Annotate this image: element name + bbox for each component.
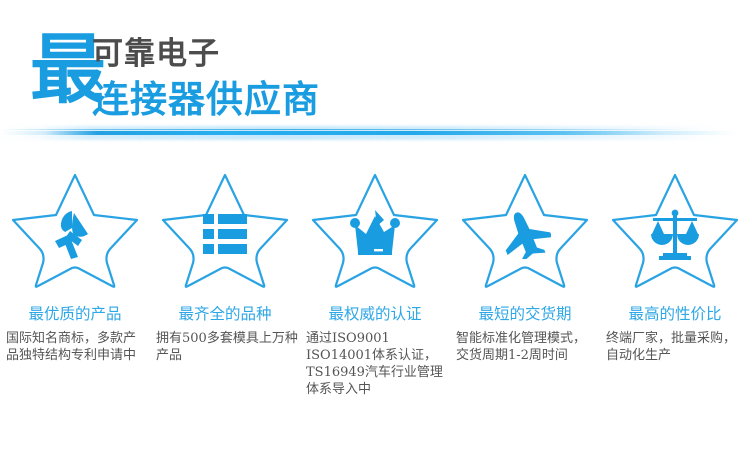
feature-description: 通过ISO9001 ISO14001体系认证，TS16949汽车行业管理体系导入… bbox=[302, 330, 448, 398]
feature-icon-slot bbox=[460, 206, 590, 262]
feature-icon-slot bbox=[610, 206, 740, 262]
header-banner: 最 可靠电子 连接器供应商 bbox=[0, 0, 752, 150]
headline-line-one: 可靠电子 bbox=[92, 37, 220, 71]
feature-list: 最优质的产品 国际知名商标，多款产品独特结构专利申请中 bbox=[0, 168, 752, 398]
feature-item-price-ratio: 最高的性价比 终端厂家，批量采购，自动化生产 bbox=[600, 168, 750, 364]
headline-line-two: 连接器供应商 bbox=[92, 80, 320, 120]
star-badge bbox=[310, 168, 440, 292]
feature-description: 智能标准化管理模式，交货周期1-2周时间 bbox=[452, 330, 598, 364]
feature-title: 最高的性价比 bbox=[628, 305, 721, 323]
feature-item-certification: 最权威的认证 通过ISO9001 ISO14001体系认证，TS16949汽车行… bbox=[300, 168, 450, 398]
feature-item-delivery-time: 最短的交货期 智能标准化管理模式，交货周期1-2周时间 bbox=[450, 168, 600, 364]
feature-item-best-quality: 最优质的产品 国际知名商标，多款产品独特结构专利申请中 bbox=[0, 168, 150, 364]
feature-description: 拥有500多套模具上万种产品 bbox=[152, 330, 298, 364]
feature-icon-slot bbox=[310, 206, 440, 262]
feature-icon-slot bbox=[160, 206, 290, 262]
feature-title: 最优质的产品 bbox=[28, 305, 121, 323]
feature-description: 国际知名商标，多款产品独特结构专利申请中 bbox=[2, 330, 148, 364]
list-grid-icon bbox=[203, 214, 247, 254]
star-badge bbox=[610, 168, 740, 292]
award-ribbon-icon bbox=[48, 207, 102, 261]
airplane-icon bbox=[499, 209, 551, 259]
feature-item-widest-range: 最齐全的品种 拥有500多套模具上万种产品 bbox=[150, 168, 300, 364]
divider-highlight bbox=[0, 129, 752, 130]
feature-icon-slot bbox=[10, 206, 140, 262]
star-badge bbox=[460, 168, 590, 292]
star-badge bbox=[10, 168, 140, 292]
feature-title: 最齐全的品种 bbox=[178, 305, 271, 323]
headline-group: 最 可靠电子 连接器供应商 bbox=[30, 28, 650, 128]
balance-scale-icon bbox=[650, 208, 700, 260]
divider-core-line bbox=[0, 131, 752, 135]
feature-description: 终端厂家，批量采购，自动化生产 bbox=[602, 330, 748, 364]
feature-title: 最权威的认证 bbox=[328, 305, 421, 323]
header-divider bbox=[0, 126, 752, 140]
feature-title: 最短的交货期 bbox=[478, 305, 571, 323]
crown-icon bbox=[350, 210, 400, 258]
star-badge bbox=[160, 168, 290, 292]
